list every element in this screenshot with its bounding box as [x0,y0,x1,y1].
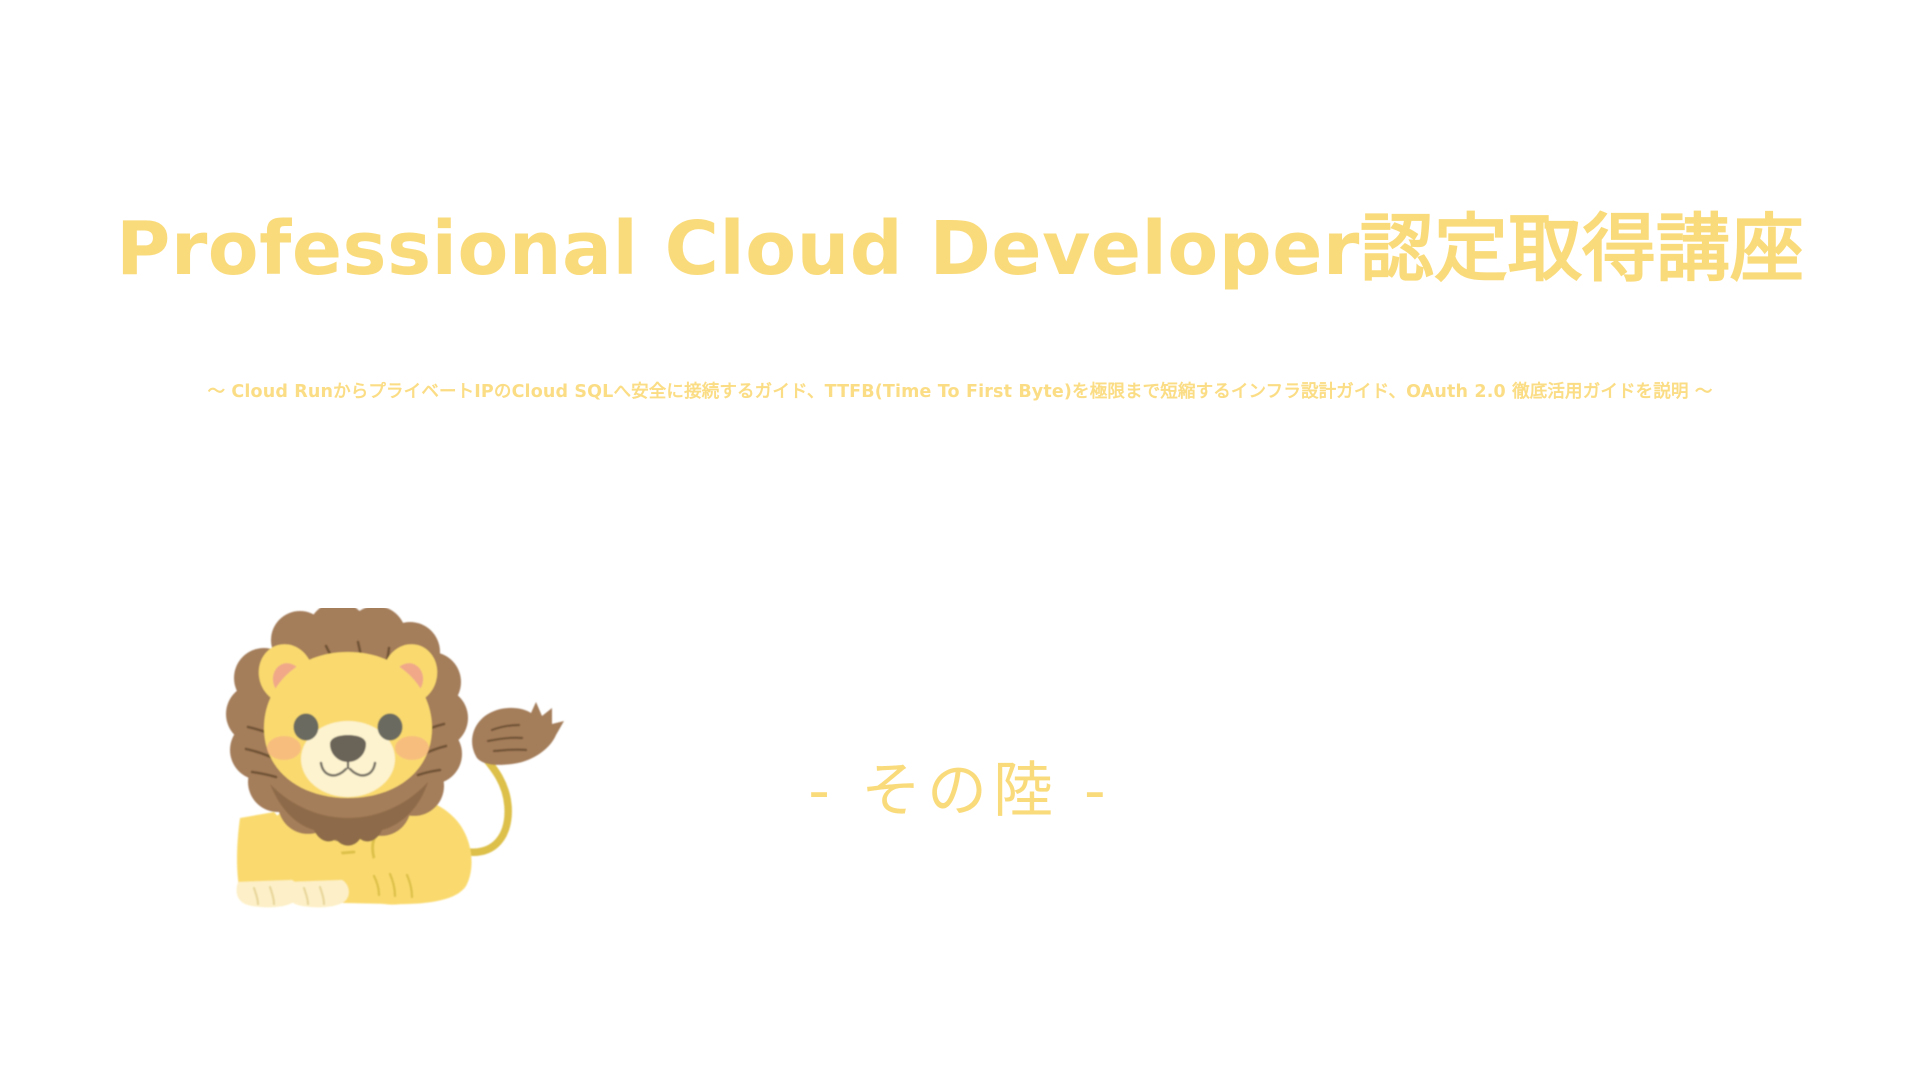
slide-canvas: Professional Cloud Developer認定取得講座 〜 Clo… [0,0,1920,1080]
page-title: Professional Cloud Developer認定取得講座 [0,208,1920,291]
page-subtitle: 〜 Cloud RunからプライベートIPのCloud SQLへ安全に接続するガ… [0,378,1920,403]
lion-illustration [178,608,588,928]
page-title-main: Professional Cloud Developer [116,206,1360,292]
page-title-suffix: 認定取得講座 [1360,206,1804,292]
section-caption: - その陸 - [640,742,1280,829]
